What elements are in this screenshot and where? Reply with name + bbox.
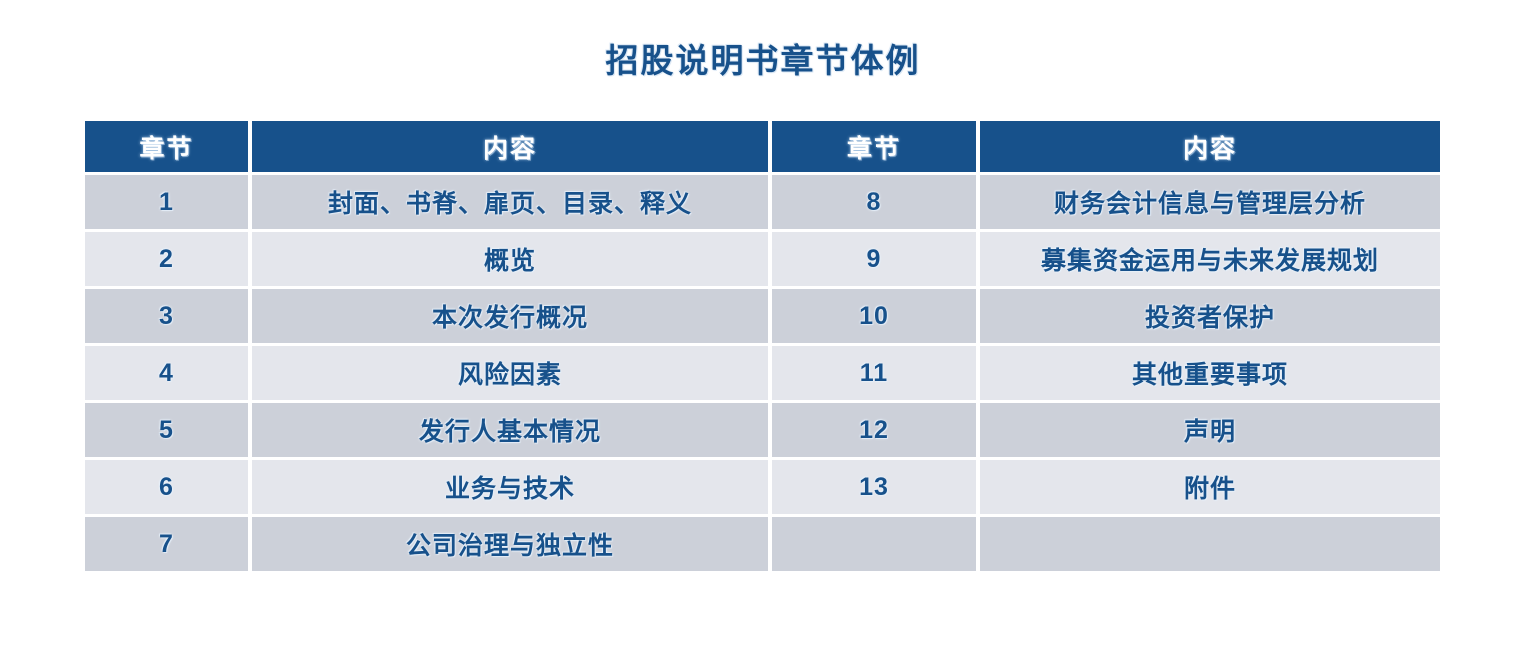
cell-content-left: 概览 bbox=[252, 232, 768, 286]
cell-chapter-right: 10 bbox=[772, 289, 976, 343]
cell-content-right: 募集资金运用与未来发展规划 bbox=[980, 232, 1440, 286]
cell-chapter-left: 3 bbox=[85, 289, 248, 343]
cell-chapter-left: 4 bbox=[85, 346, 248, 400]
prospectus-sections-table: 章节 内容 章节 内容 1 封面、书脊、扉页、目录、释义 8 财务会计信息与管理… bbox=[81, 118, 1444, 574]
cell-chapter-left: 1 bbox=[85, 175, 248, 229]
cell-chapter-right: 12 bbox=[772, 403, 976, 457]
cell-content-right: 其他重要事项 bbox=[980, 346, 1440, 400]
table-row: 4 风险因素 11 其他重要事项 bbox=[85, 346, 1440, 400]
header-row: 章节 内容 章节 内容 bbox=[85, 121, 1440, 172]
cell-chapter-right bbox=[772, 517, 976, 571]
cell-content-left: 封面、书脊、扉页、目录、释义 bbox=[252, 175, 768, 229]
cell-content-right: 附件 bbox=[980, 460, 1440, 514]
document-page: 招股说明书章节体例 章节 内容 章节 内容 1 封面、书脊、扉页 bbox=[0, 0, 1526, 645]
column-header-content-right: 内容 bbox=[980, 121, 1440, 172]
table-body: 1 封面、书脊、扉页、目录、释义 8 财务会计信息与管理层分析 2 概览 9 募… bbox=[85, 175, 1440, 571]
table-row: 6 业务与技术 13 附件 bbox=[85, 460, 1440, 514]
page-title: 招股说明书章节体例 bbox=[0, 34, 1526, 82]
cell-content-right: 声明 bbox=[980, 403, 1440, 457]
cell-chapter-left: 7 bbox=[85, 517, 248, 571]
cell-chapter-left: 2 bbox=[85, 232, 248, 286]
cell-content-right bbox=[980, 517, 1440, 571]
sections-table-container: 章节 内容 章节 内容 1 封面、书脊、扉页、目录、释义 8 财务会计信息与管理… bbox=[85, 121, 1428, 571]
cell-chapter-right: 13 bbox=[772, 460, 976, 514]
table-row: 7 公司治理与独立性 bbox=[85, 517, 1440, 571]
cell-content-right: 财务会计信息与管理层分析 bbox=[980, 175, 1440, 229]
cell-content-right: 投资者保护 bbox=[980, 289, 1440, 343]
table-header: 章节 内容 章节 内容 bbox=[85, 121, 1440, 172]
table-row: 2 概览 9 募集资金运用与未来发展规划 bbox=[85, 232, 1440, 286]
column-header-content-left: 内容 bbox=[252, 121, 768, 172]
cell-content-left: 发行人基本情况 bbox=[252, 403, 768, 457]
cell-chapter-right: 8 bbox=[772, 175, 976, 229]
cell-chapter-left: 6 bbox=[85, 460, 248, 514]
table-row: 1 封面、书脊、扉页、目录、释义 8 财务会计信息与管理层分析 bbox=[85, 175, 1440, 229]
cell-chapter-left: 5 bbox=[85, 403, 248, 457]
cell-chapter-right: 11 bbox=[772, 346, 976, 400]
column-header-chapter-left: 章节 bbox=[85, 121, 248, 172]
table-row: 3 本次发行概况 10 投资者保护 bbox=[85, 289, 1440, 343]
cell-content-left: 风险因素 bbox=[252, 346, 768, 400]
cell-content-left: 公司治理与独立性 bbox=[252, 517, 768, 571]
column-header-chapter-right: 章节 bbox=[772, 121, 976, 172]
table-row: 5 发行人基本情况 12 声明 bbox=[85, 403, 1440, 457]
cell-content-left: 本次发行概况 bbox=[252, 289, 768, 343]
cell-content-left: 业务与技术 bbox=[252, 460, 768, 514]
cell-chapter-right: 9 bbox=[772, 232, 976, 286]
